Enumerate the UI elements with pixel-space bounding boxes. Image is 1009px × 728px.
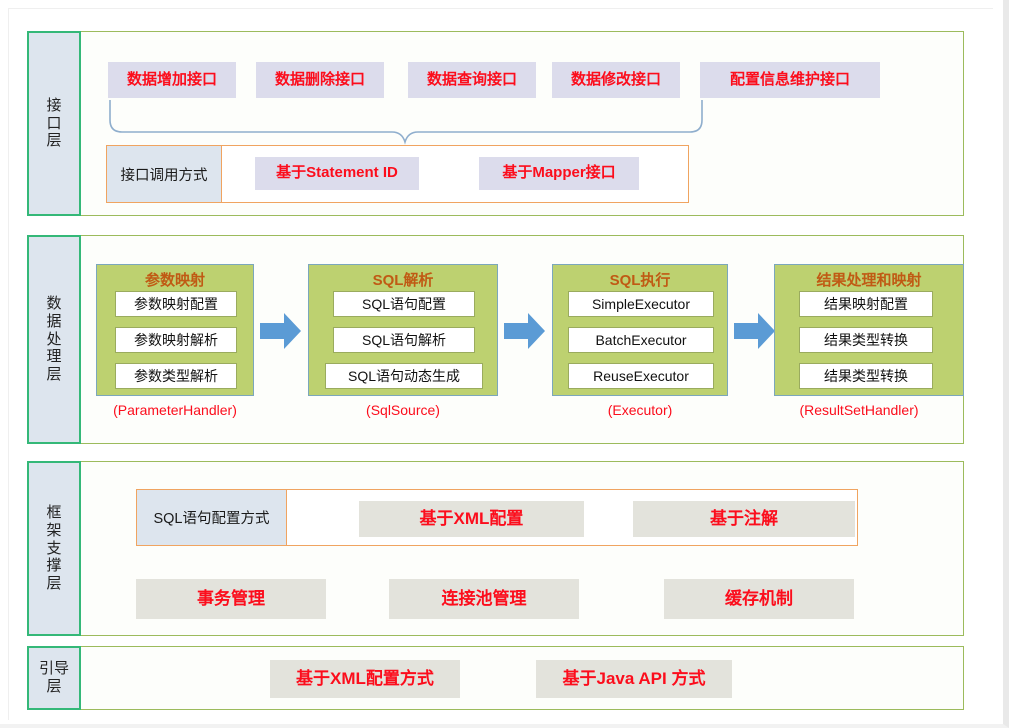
flow-arrow-2 — [504, 312, 546, 350]
layer-tab-interface: 接口层 — [27, 31, 81, 216]
data-card-result-handling: 结果处理和映射 结果映射配置 结果类型转换 结果类型转换 — [774, 264, 964, 396]
framework-support-item-cache[interactable]: 缓存机制 — [664, 579, 854, 619]
data-card-title-parameter-mapping: 参数映射 — [97, 269, 253, 290]
diagram-canvas: 接口层 数据增加接口 数据删除接口 数据查询接口 数据修改接口 配置信息维护接口… — [0, 0, 1009, 728]
layer-panel-interface: 接口层 数据增加接口 数据删除接口 数据查询接口 数据修改接口 配置信息维护接口… — [27, 31, 964, 216]
framework-support-item-connection-pool[interactable]: 连接池管理 — [389, 579, 579, 619]
data-card-sql-execute: SQL执行 SimpleExecutor BatchExecutor Reuse… — [552, 264, 728, 396]
data-card-row-sql-execute-1[interactable]: BatchExecutor — [568, 327, 714, 353]
data-card-row-parameter-mapping-0[interactable]: 参数映射配置 — [115, 291, 237, 317]
layer-tab-label-framework-support: 框架支撑层 — [46, 504, 63, 592]
flow-arrow-3 — [734, 312, 776, 350]
interface-chip-config-maintain[interactable]: 配置信息维护接口 — [700, 62, 880, 98]
data-card-row-sql-parse-0[interactable]: SQL语句配置 — [333, 291, 475, 317]
diagram-inner-frame: 接口层 数据增加接口 数据删除接口 数据查询接口 数据修改接口 配置信息维护接口… — [8, 8, 993, 720]
data-card-handler-parameter-mapping: (ParameterHandler) — [96, 402, 254, 418]
interface-chip-add[interactable]: 数据增加接口 — [108, 62, 236, 98]
layer-panel-bootstrap: 引导层 基于XML配置方式 基于Java API 方式 — [27, 646, 964, 710]
data-card-title-sql-parse: SQL解析 — [309, 269, 497, 290]
layer-tab-label-bootstrap: 引导层 — [34, 660, 74, 695]
bootstrap-item-java-api[interactable]: 基于Java API 方式 — [536, 660, 732, 698]
layer-panel-data-process: 数据处理层 参数映射 参数映射配置 参数映射解析 参数类型解析 (Paramet… — [27, 235, 964, 444]
data-card-row-result-handling-0[interactable]: 结果映射配置 — [799, 291, 933, 317]
data-card-row-sql-parse-1[interactable]: SQL语句解析 — [333, 327, 475, 353]
layer-tab-label-interface: 接口层 — [46, 97, 63, 150]
layer-panel-framework-support: 框架支撑层 SQL语句配置方式 基于XML配置 基于注解 事务管理 连接池管理 … — [27, 461, 964, 636]
data-card-row-sql-execute-2[interactable]: ReuseExecutor — [568, 363, 714, 389]
layer-tab-label-data-process: 数据处理层 — [46, 295, 63, 383]
interface-call-method-group: 接口调用方式 基于Statement ID 基于Mapper接口 — [106, 145, 689, 203]
data-card-row-result-handling-1[interactable]: 结果类型转换 — [799, 327, 933, 353]
data-card-row-parameter-mapping-1[interactable]: 参数映射解析 — [115, 327, 237, 353]
framework-sql-config-option-xml[interactable]: 基于XML配置 — [359, 501, 584, 537]
layer-tab-framework-support: 框架支撑层 — [27, 461, 81, 636]
data-card-title-result-handling: 结果处理和映射 — [775, 269, 963, 290]
data-card-handler-result-handling: (ResultSetHandler) — [764, 402, 954, 418]
framework-support-item-transaction[interactable]: 事务管理 — [136, 579, 326, 619]
data-card-handler-sql-execute: (Executor) — [552, 402, 728, 418]
data-card-sql-parse: SQL解析 SQL语句配置 SQL语句解析 SQL语句动态生成 — [308, 264, 498, 396]
interface-chip-update[interactable]: 数据修改接口 — [552, 62, 680, 98]
framework-sql-config-option-annotation[interactable]: 基于注解 — [633, 501, 855, 537]
bootstrap-item-xml[interactable]: 基于XML配置方式 — [270, 660, 460, 698]
data-card-row-sql-parse-2[interactable]: SQL语句动态生成 — [325, 363, 483, 389]
data-card-handler-sql-parse: (SqlSource) — [308, 402, 498, 418]
layer-tab-bootstrap: 引导层 — [27, 646, 81, 710]
data-card-title-sql-execute: SQL执行 — [553, 269, 727, 290]
data-card-row-parameter-mapping-2[interactable]: 参数类型解析 — [115, 363, 237, 389]
flow-arrow-1 — [260, 312, 302, 350]
interface-chip-delete[interactable]: 数据删除接口 — [256, 62, 384, 98]
brace-connector — [106, 98, 706, 148]
interface-chip-query[interactable]: 数据查询接口 — [408, 62, 536, 98]
data-card-parameter-mapping: 参数映射 参数映射配置 参数映射解析 参数类型解析 — [96, 264, 254, 396]
interface-call-option-statement-id[interactable]: 基于Statement ID — [255, 157, 419, 190]
data-card-row-sql-execute-0[interactable]: SimpleExecutor — [568, 291, 714, 317]
framework-sql-config-label: SQL语句配置方式 — [137, 490, 287, 545]
interface-call-option-mapper[interactable]: 基于Mapper接口 — [479, 157, 639, 190]
framework-sql-config-group: SQL语句配置方式 基于XML配置 基于注解 — [136, 489, 858, 546]
interface-call-method-label: 接口调用方式 — [107, 146, 222, 202]
data-card-row-result-handling-2[interactable]: 结果类型转换 — [799, 363, 933, 389]
layer-tab-data-process: 数据处理层 — [27, 235, 81, 444]
